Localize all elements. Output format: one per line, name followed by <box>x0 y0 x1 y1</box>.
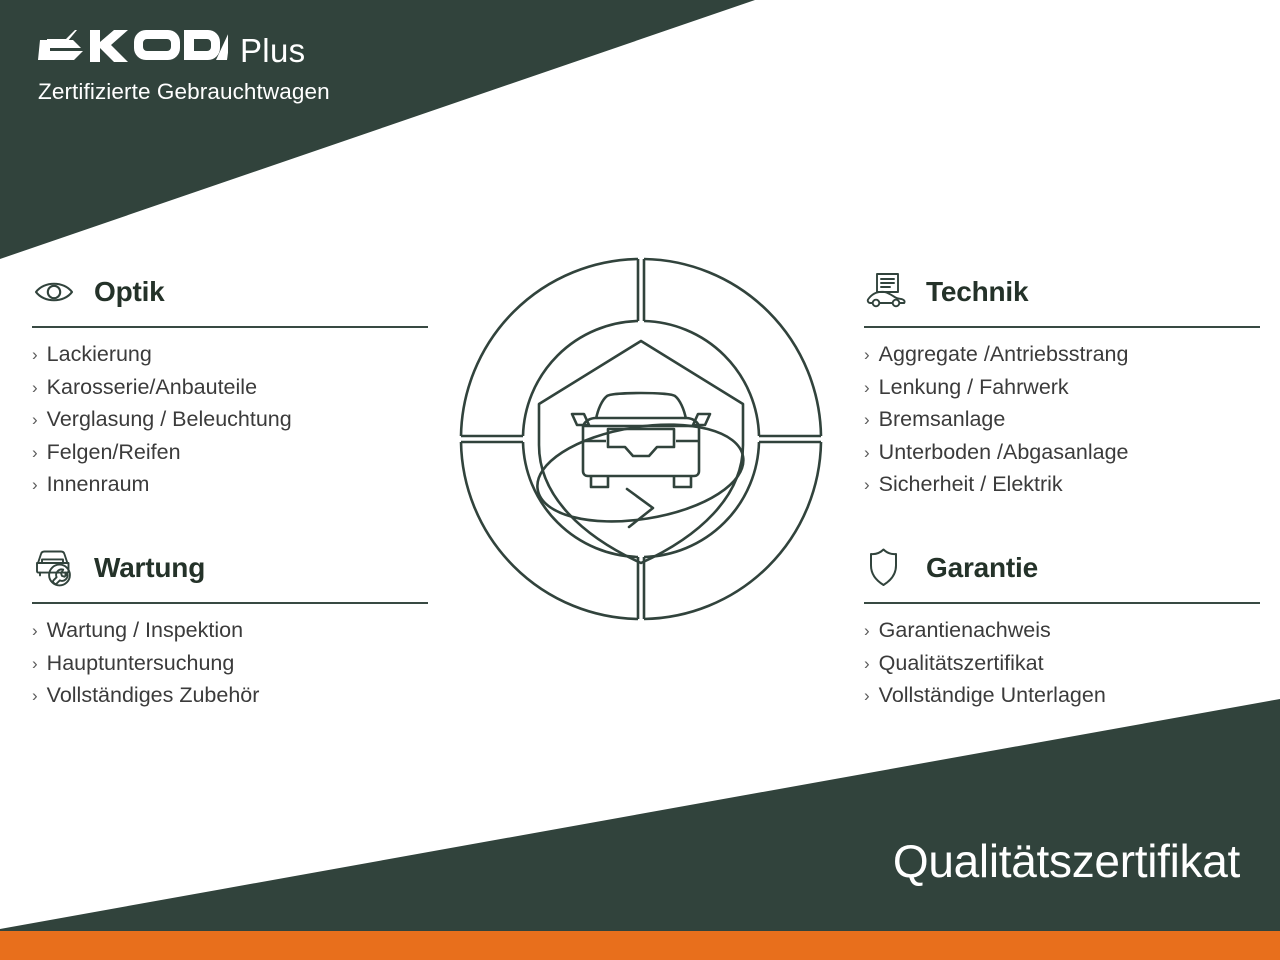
section-title: Wartung <box>94 554 205 582</box>
shield-icon <box>864 546 912 590</box>
list-item: ›Vollständiges Zubehör <box>32 680 428 713</box>
outer-ring <box>461 259 821 619</box>
car-front-icon <box>572 393 710 487</box>
list-item-label: Felgen/Reifen <box>47 437 181 469</box>
chevron-right-icon: › <box>32 680 38 712</box>
shield-car-orbit-emblem <box>451 249 831 629</box>
section-list: ›Aggregate /Antriebsstrang ›Lenkung / Fa… <box>864 328 1260 502</box>
chevron-right-icon: › <box>864 680 870 712</box>
list-item-label: Garantienachweis <box>879 615 1051 647</box>
section-list: ›Wartung / Inspektion ›Hauptuntersuchung… <box>32 604 428 713</box>
list-item: ›Aggregate /Antriebsstrang <box>864 339 1260 372</box>
list-item: ›Sicherheit / Elektrik <box>864 469 1260 502</box>
list-item-label: Innenraum <box>47 469 150 501</box>
section-title: Garantie <box>926 554 1038 582</box>
list-item: ›Verglasung / Beleuchtung <box>32 404 428 437</box>
list-item: ›Lackierung <box>32 339 428 372</box>
chevron-right-icon: › <box>32 437 38 469</box>
eye-icon <box>32 270 80 314</box>
list-item-label: Vollständige Unterlagen <box>879 680 1106 712</box>
chevron-right-icon: › <box>864 339 870 371</box>
list-item: ›Hauptuntersuchung <box>32 648 428 681</box>
chevron-right-icon: › <box>864 437 870 469</box>
list-item: ›Garantienachweis <box>864 615 1260 648</box>
brand-title-row: Plus <box>38 28 330 72</box>
section-garantie: Garantie ›Garantienachweis ›Qualitätszer… <box>864 542 1260 713</box>
list-item-label: Lackierung <box>47 339 152 371</box>
chevron-right-icon: › <box>32 469 38 501</box>
list-item: ›Lenkung / Fahrwerk <box>864 372 1260 405</box>
skoda-wordmark-logo <box>38 28 228 67</box>
list-item-label: Aggregate /Antriebsstrang <box>879 339 1129 371</box>
chevron-right-icon: › <box>32 648 38 680</box>
list-item-label: Karosserie/Anbauteile <box>47 372 257 404</box>
list-item-label: Wartung / Inspektion <box>47 615 243 647</box>
shield-outline <box>539 341 743 563</box>
section-title: Technik <box>926 278 1028 306</box>
list-item: ›Qualitätszertifikat <box>864 648 1260 681</box>
section-list: ›Garantienachweis ›Qualitätszertifikat ›… <box>864 604 1260 713</box>
chevron-right-icon: › <box>32 372 38 404</box>
chevron-right-icon: › <box>32 615 38 647</box>
chevron-right-icon: › <box>864 404 870 436</box>
list-item-label: Verglasung / Beleuchtung <box>47 404 292 436</box>
list-item: ›Vollständige Unterlagen <box>864 680 1260 713</box>
list-item: ›Unterboden /Abgasanlage <box>864 437 1260 470</box>
chevron-right-icon: › <box>864 469 870 501</box>
chevron-right-icon: › <box>32 339 38 371</box>
section-technik: Technik ›Aggregate /Antriebsstrang ›Lenk… <box>864 266 1260 502</box>
section-title: Optik <box>94 278 165 306</box>
list-item-label: Sicherheit / Elektrik <box>879 469 1063 501</box>
section-wartung: Wartung ›Wartung / Inspektion ›Hauptunte… <box>32 542 428 713</box>
list-item-label: Lenkung / Fahrwerk <box>879 372 1069 404</box>
section-header: Garantie <box>864 542 1260 594</box>
chevron-right-icon: › <box>864 648 870 680</box>
brand-suffix: Plus <box>240 34 305 67</box>
section-optik: Optik ›Lackierung ›Karosserie/Anbauteile… <box>32 266 428 502</box>
section-header: Optik <box>32 266 428 318</box>
list-item-label: Vollständiges Zubehör <box>47 680 260 712</box>
car-wrench-icon <box>32 546 80 590</box>
section-list: ›Lackierung ›Karosserie/Anbauteile ›Verg… <box>32 328 428 502</box>
section-header: Wartung <box>32 542 428 594</box>
list-item-label: Bremsanlage <box>879 404 1006 436</box>
footer-headline: Qualitätszertifikat <box>893 838 1240 884</box>
ring-gap-connectors <box>461 259 821 619</box>
list-item-label: Qualitätszertifikat <box>879 648 1044 680</box>
certificate-page: Plus Zertifizierte Gebrauchtwagen Optik … <box>0 0 1280 960</box>
list-item-label: Hauptuntersuchung <box>47 648 235 680</box>
list-item: ›Innenraum <box>32 469 428 502</box>
chevron-right-icon: › <box>864 372 870 404</box>
list-item-label: Unterboden /Abgasanlage <box>879 437 1129 469</box>
inner-ring <box>523 321 759 557</box>
list-item: ›Wartung / Inspektion <box>32 615 428 648</box>
chevron-right-icon: › <box>864 615 870 647</box>
list-item: ›Bremsanlage <box>864 404 1260 437</box>
section-header: Technik <box>864 266 1260 318</box>
list-item: ›Felgen/Reifen <box>32 437 428 470</box>
list-item: ›Karosserie/Anbauteile <box>32 372 428 405</box>
brand-lockup: Plus Zertifizierte Gebrauchtwagen <box>38 28 330 105</box>
chevron-right-icon: › <box>32 404 38 436</box>
brand-tagline: Zertifizierte Gebrauchtwagen <box>38 79 330 105</box>
document-car-icon <box>864 270 912 314</box>
